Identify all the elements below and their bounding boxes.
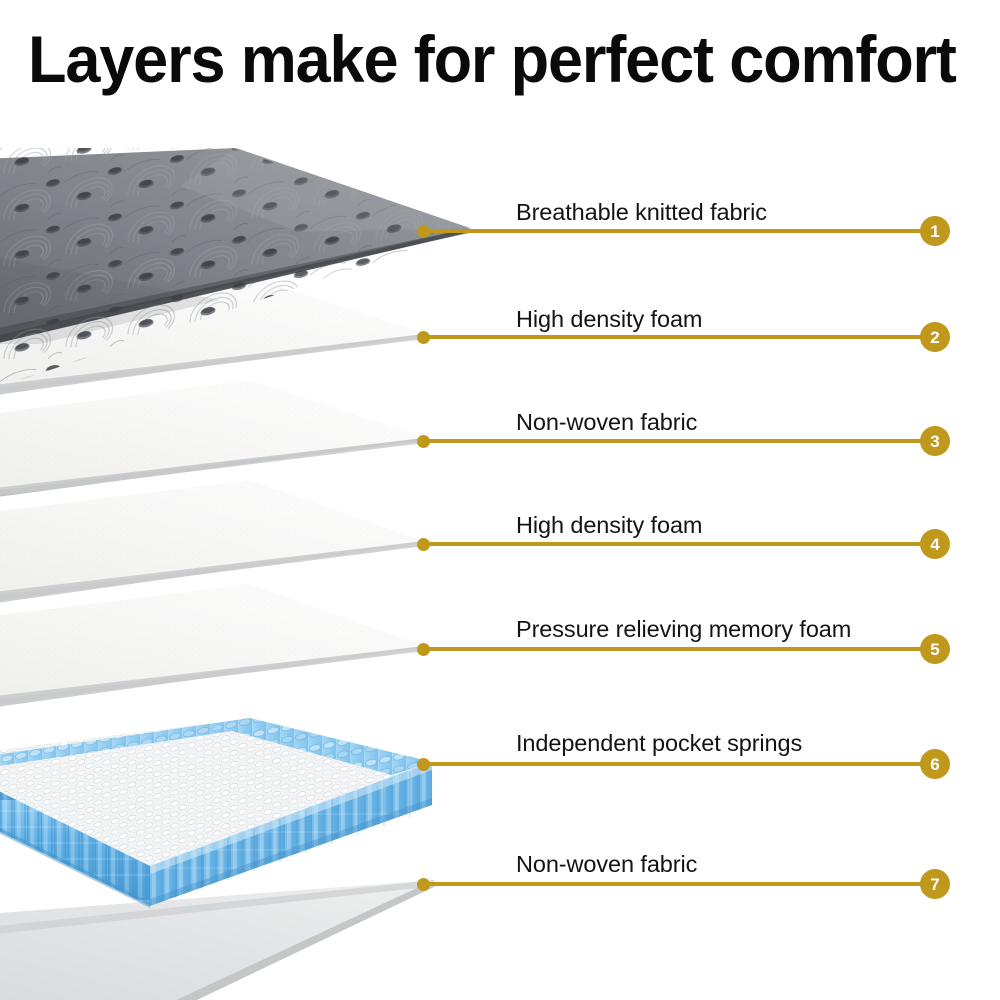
leader-dot-1 bbox=[417, 225, 430, 238]
leader-dot-7 bbox=[417, 878, 430, 891]
leader-line-4 bbox=[423, 542, 926, 546]
layer-label-3: Non-woven fabric bbox=[516, 409, 697, 436]
leader-line-5 bbox=[423, 647, 926, 651]
infographic-canvas: Layers make for perfect comfort bbox=[0, 0, 1000, 1000]
layer-label-5: Pressure relieving memory foam bbox=[516, 616, 851, 643]
leader-line-2 bbox=[423, 335, 926, 339]
leader-line-3 bbox=[423, 439, 926, 443]
layer-1-knitted-fabric bbox=[0, 120, 560, 400]
leader-dot-4 bbox=[417, 538, 430, 551]
leader-line-7 bbox=[423, 882, 926, 886]
layer-badge-3: 3 bbox=[920, 426, 950, 456]
layer-5-memory-foam bbox=[0, 584, 424, 712]
layer-label-6: Independent pocket springs bbox=[516, 730, 802, 757]
layer-6-pocket-springs bbox=[0, 718, 432, 908]
leader-line-1 bbox=[423, 229, 926, 233]
leader-line-6 bbox=[423, 762, 926, 766]
layer-badge-4: 4 bbox=[920, 529, 950, 559]
layer-label-4: High density foam bbox=[516, 512, 702, 539]
layer-badge-7: 7 bbox=[920, 869, 950, 899]
leader-dot-2 bbox=[417, 331, 430, 344]
mattress-layers-illustration bbox=[0, 0, 1000, 1000]
layer-label-2: High density foam bbox=[516, 306, 702, 333]
layer-badge-5: 5 bbox=[920, 634, 950, 664]
layer-label-7: Non-woven fabric bbox=[516, 851, 697, 878]
layer-7-non-woven-fabric bbox=[0, 880, 436, 1000]
leader-dot-3 bbox=[417, 435, 430, 448]
layer-badge-1: 1 bbox=[920, 216, 950, 246]
layer-label-1: Breathable knitted fabric bbox=[516, 199, 767, 226]
leader-dot-6 bbox=[417, 758, 430, 771]
layer-3-non-woven-fabric bbox=[0, 380, 424, 502]
leader-dot-5 bbox=[417, 643, 430, 656]
layer-badge-2: 2 bbox=[920, 322, 950, 352]
layer-badge-6: 6 bbox=[920, 749, 950, 779]
